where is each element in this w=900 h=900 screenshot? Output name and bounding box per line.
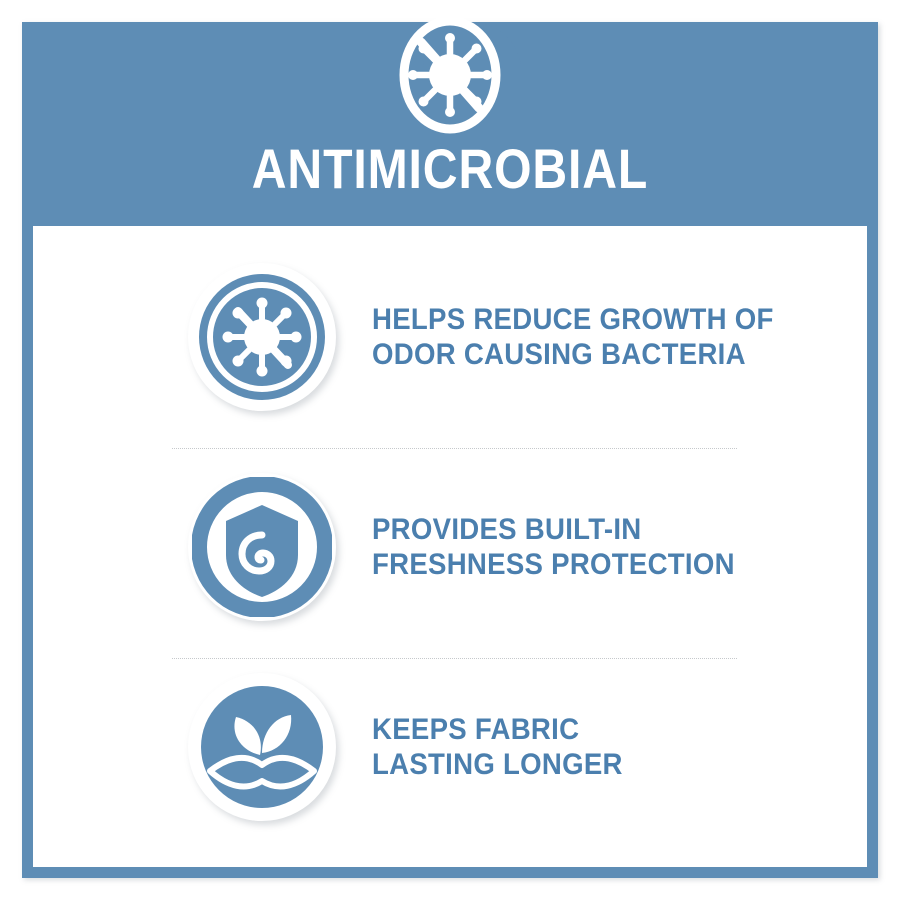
feature-row-bacteria: HELPS REDUCE GROWTH OF ODOR CAUSING BACT… xyxy=(33,244,867,430)
leaves-fabric-badge-icon xyxy=(188,673,336,821)
page-title: ANTIMICROBIAL xyxy=(82,140,818,199)
row-divider-1 xyxy=(172,448,737,450)
no-virus-icon xyxy=(385,10,515,140)
features-panel: HELPS REDUCE GROWTH OF ODOR CAUSING BACT… xyxy=(33,226,867,867)
feature-label-freshness: PROVIDES BUILT-IN FRESHNESS PROTECTION xyxy=(372,512,735,583)
shield-swirl-badge-icon xyxy=(188,473,336,621)
feature-row-freshness: PROVIDES BUILT-IN FRESHNESS PROTECTION xyxy=(33,454,867,640)
feature-row-fabric: KEEPS FABRIC LASTING LONGER xyxy=(33,654,867,840)
no-virus-badge-icon xyxy=(188,263,336,411)
feature-label-fabric: KEEPS FABRIC LASTING LONGER xyxy=(372,712,623,783)
feature-label-bacteria: HELPS REDUCE GROWTH OF ODOR CAUSING BACT… xyxy=(372,302,774,373)
antimicrobial-infographic: ANTIMICROBIAL xyxy=(0,0,900,900)
